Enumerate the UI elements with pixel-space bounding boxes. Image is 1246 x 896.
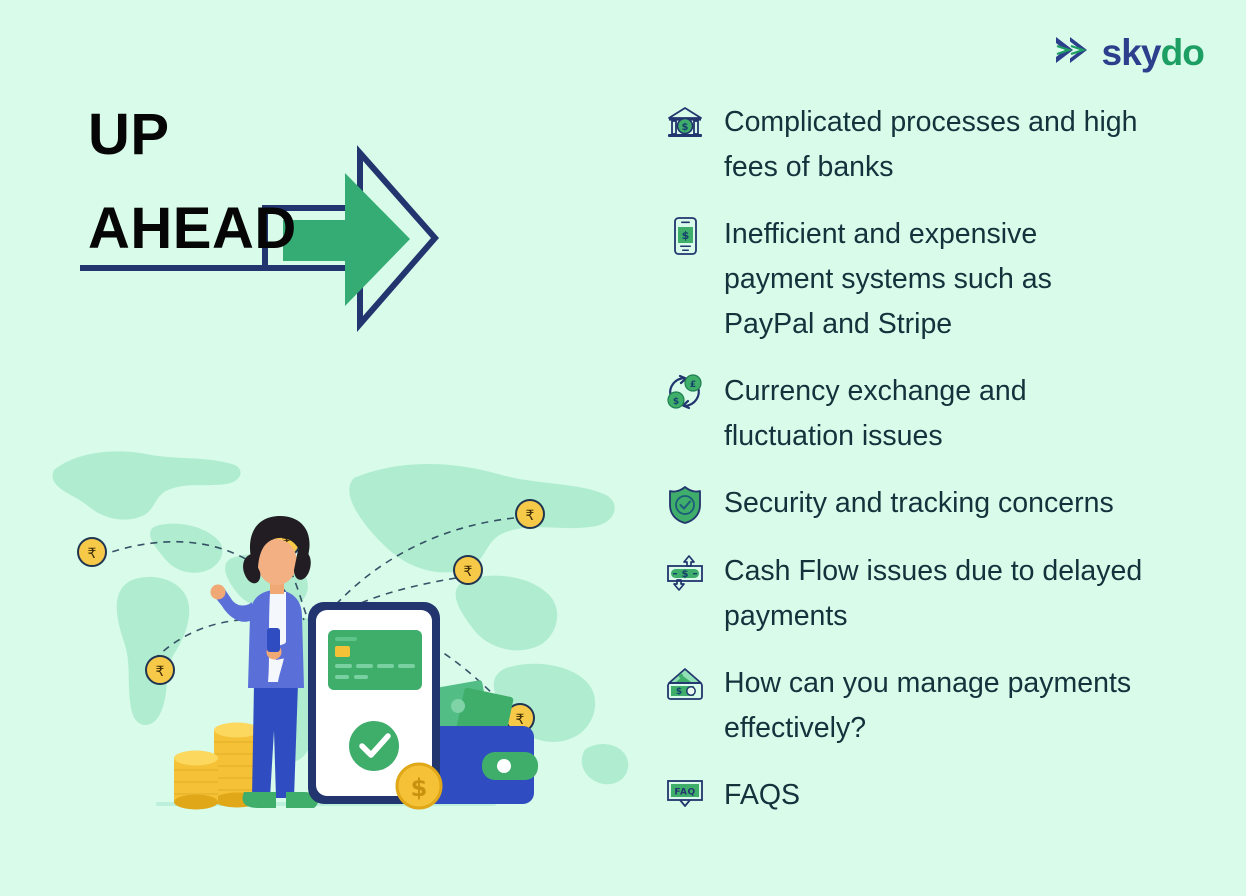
page-title-line-1: UP (88, 88, 297, 182)
list-item[interactable]: $ Complicated processes and high fees of… (664, 100, 1204, 190)
list-item-label: Security and tracking concerns (724, 481, 1114, 526)
headline-block: UP AHEAD (80, 88, 560, 318)
svg-text:$: $ (682, 122, 689, 133)
list-item-label: How can you manage payments effectively? (724, 661, 1144, 751)
list-item[interactable]: $ Inefficient and expensive payment syst… (664, 212, 1204, 347)
list-item-label: Currency exchange and fluctuation issues (724, 369, 1144, 459)
svg-text:$: $ (682, 229, 690, 242)
svg-text:£: £ (690, 380, 696, 390)
list-item[interactable]: Security and tracking concerns (664, 481, 1204, 527)
page-title-line-2: AHEAD (88, 182, 297, 276)
list-item-label: Cash Flow issues due to delayed payments (724, 549, 1144, 639)
svg-text:₹: ₹ (88, 546, 97, 562)
global-payments-illustration: ₹ ₹ ₹ ₹ ₹ ₹ (36, 430, 646, 850)
svg-text:FAQ: FAQ (674, 788, 695, 798)
svg-text:₹: ₹ (516, 712, 525, 728)
brand-wordmark-do: do (1161, 32, 1204, 73)
faq-bubble-icon: FAQ (664, 773, 706, 819)
wallet-icon: $ (664, 661, 706, 707)
credit-card (328, 630, 422, 690)
list-item[interactable]: $ Cash Flow issues due to delayed paymen… (664, 549, 1204, 639)
currency-exchange-icon: £ $ (664, 369, 706, 415)
svg-text:₹: ₹ (464, 564, 473, 580)
rupee-coin: ₹ (516, 500, 544, 528)
list-item[interactable]: £ $ Currency exchange and fluctuation is… (664, 369, 1204, 459)
svg-text:₹: ₹ (526, 508, 535, 524)
brand-logo[interactable]: skydo (1053, 30, 1204, 74)
list-item[interactable]: $ How can you manage payments effectivel… (664, 661, 1204, 751)
brand-wordmark: skydo (1102, 34, 1204, 71)
rupee-coin: ₹ (454, 556, 482, 584)
gold-dollar-coin: $ (397, 764, 441, 808)
svg-text:$: $ (673, 397, 679, 407)
skydo-chevron-logo-icon (1053, 33, 1093, 72)
cash-flow-icon: $ (664, 549, 706, 595)
list-item-label: FAQS (724, 773, 800, 818)
page-title: UP AHEAD (88, 88, 297, 276)
shield-check-icon (664, 481, 706, 527)
list-item[interactable]: FAQ FAQS (664, 773, 1204, 819)
svg-text:$: $ (411, 774, 428, 802)
list-item-label: Inefficient and expensive payment system… (724, 212, 1144, 347)
list-item-label: Complicated processes and high fees of b… (724, 100, 1144, 190)
svg-text:$: $ (682, 569, 689, 580)
svg-text:₹: ₹ (156, 664, 165, 680)
success-check-icon (349, 721, 399, 771)
brand-wordmark-sky: sky (1102, 32, 1161, 73)
rupee-coin: ₹ (78, 538, 106, 566)
rupee-coin: ₹ (146, 656, 174, 684)
topics-list: $ Complicated processes and high fees of… (664, 100, 1204, 841)
svg-text:$: $ (676, 687, 682, 697)
mobile-payment-icon: $ (664, 212, 706, 258)
bank-icon: $ (664, 100, 706, 146)
